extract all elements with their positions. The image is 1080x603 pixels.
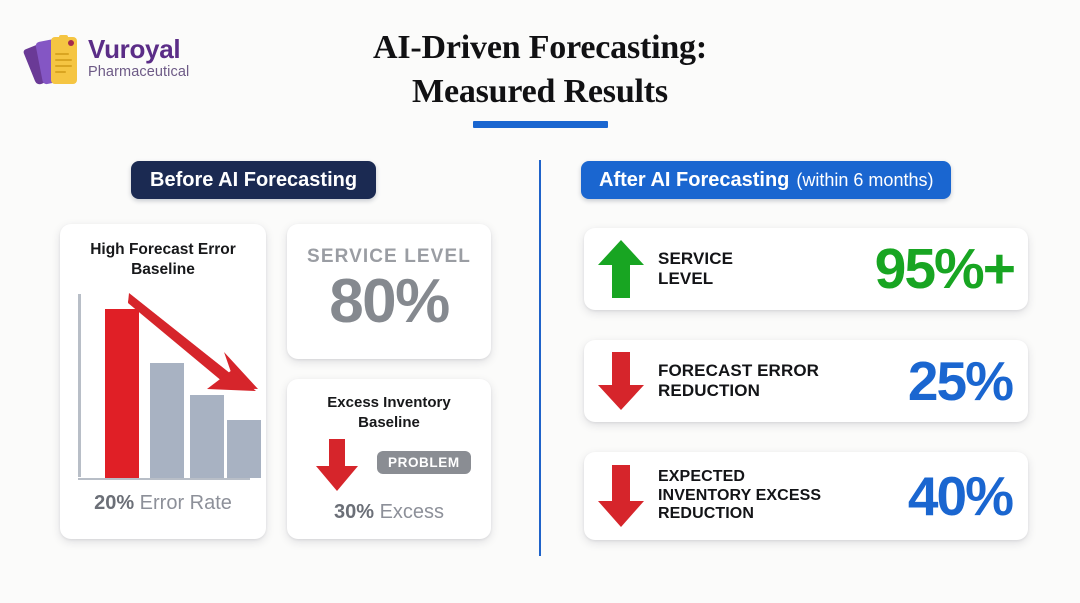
page-title-line-2: Measured Results [240,70,840,114]
chart-x-axis [78,478,250,481]
result-card-service-level: SERVICE LEVEL 95%+ [584,228,1028,310]
problem-status-badge: PROBLEM [377,451,471,474]
result-label-line-3: REDUCTION [658,505,908,524]
before-service-level-value: 80% [287,271,491,333]
brand-subtitle: Pharmaceutical [88,64,189,80]
result-label-line-2: INVENTORY EXCESS [658,487,908,506]
logo-card-front [51,37,77,84]
bar-chart-plot [78,294,250,480]
chart-title-line-1: High Forecast Error [70,240,256,260]
chart-y-axis [78,294,81,477]
logo-card-line [55,65,72,67]
after-section-badge: After AI Forecasting (within 6 months) [581,161,951,199]
result-label-inventory-excess: EXPECTED INVENTORY EXCESS REDUCTION [658,468,908,524]
red-down-arrow-icon [584,465,658,527]
brand-name: Vuroyal [88,34,180,65]
chart-card-footer: 20% Error Rate [60,492,266,515]
chart-bar [227,420,261,478]
red-down-arrow-icon [584,352,658,410]
after-badge-note: (within 6 months) [796,170,933,191]
forecast-error-chart-card: High Forecast Error Baseline 20% Error R… [60,224,266,539]
excess-card-footer: 30% Excess [287,501,491,524]
excess-title-line-1: Excess Inventory [293,393,485,413]
result-label-line-2: REDUCTION [658,381,908,401]
green-up-arrow-icon [584,240,658,298]
before-badge-label: Before AI Forecasting [150,169,357,192]
before-service-level-card: SERVICE LEVEL 80% [287,224,491,359]
excess-inventory-card: Excess Inventory Baseline PROBLEM 30% Ex… [287,379,491,539]
result-label-service-level: SERVICE LEVEL [658,249,875,288]
logo-card-line [55,53,69,55]
result-label-line-1: EXPECTED [658,468,908,487]
result-label-line-2: LEVEL [658,269,875,289]
page-title-line-1: AI-Driven Forecasting: [240,26,840,70]
result-label-line-1: SERVICE [658,249,875,269]
excess-value: 30% [334,501,374,523]
before-service-level-label: SERVICE LEVEL [287,246,491,268]
result-label-line-1: FORECAST ERROR [658,361,908,381]
after-badge-label: After AI Forecasting [599,169,789,192]
chart-title-line-2: Baseline [70,260,256,280]
logo-card-line [55,71,66,73]
result-value-inventory-excess: 40% [908,469,1028,524]
brand-logo: Vuroyal Pharmaceutical [28,30,228,92]
result-label-forecast-error: FORECAST ERROR REDUCTION [658,361,908,400]
red-trend-down-arrow-icon [128,292,263,412]
logo-card-tab [59,35,68,39]
stacked-cards-icon [28,33,80,89]
title-underline-rule [473,121,608,128]
excess-title-line-2: Baseline [293,413,485,433]
error-rate-label: Error Rate [140,492,232,514]
infographic-canvas: Vuroyal Pharmaceutical AI-Driven Forecas… [0,0,1080,603]
excess-card-title: Excess Inventory Baseline [293,393,485,432]
chart-card-title: High Forecast Error Baseline [70,240,256,280]
error-rate-value: 20% [94,492,134,514]
result-value-forecast-error: 25% [908,354,1028,409]
logo-card-dot [68,40,74,46]
logo-card-line [55,59,72,61]
excess-label: Excess [380,501,444,523]
result-value-service-level: 95%+ [875,241,1028,298]
result-card-forecast-error: FORECAST ERROR REDUCTION 25% [584,340,1028,422]
result-card-inventory-excess: EXPECTED INVENTORY EXCESS REDUCTION 40% [584,452,1028,540]
red-down-arrow-icon [315,439,359,491]
before-section-badge: Before AI Forecasting [131,161,376,199]
section-divider [539,160,541,556]
page-title: AI-Driven Forecasting: Measured Results [240,26,840,113]
